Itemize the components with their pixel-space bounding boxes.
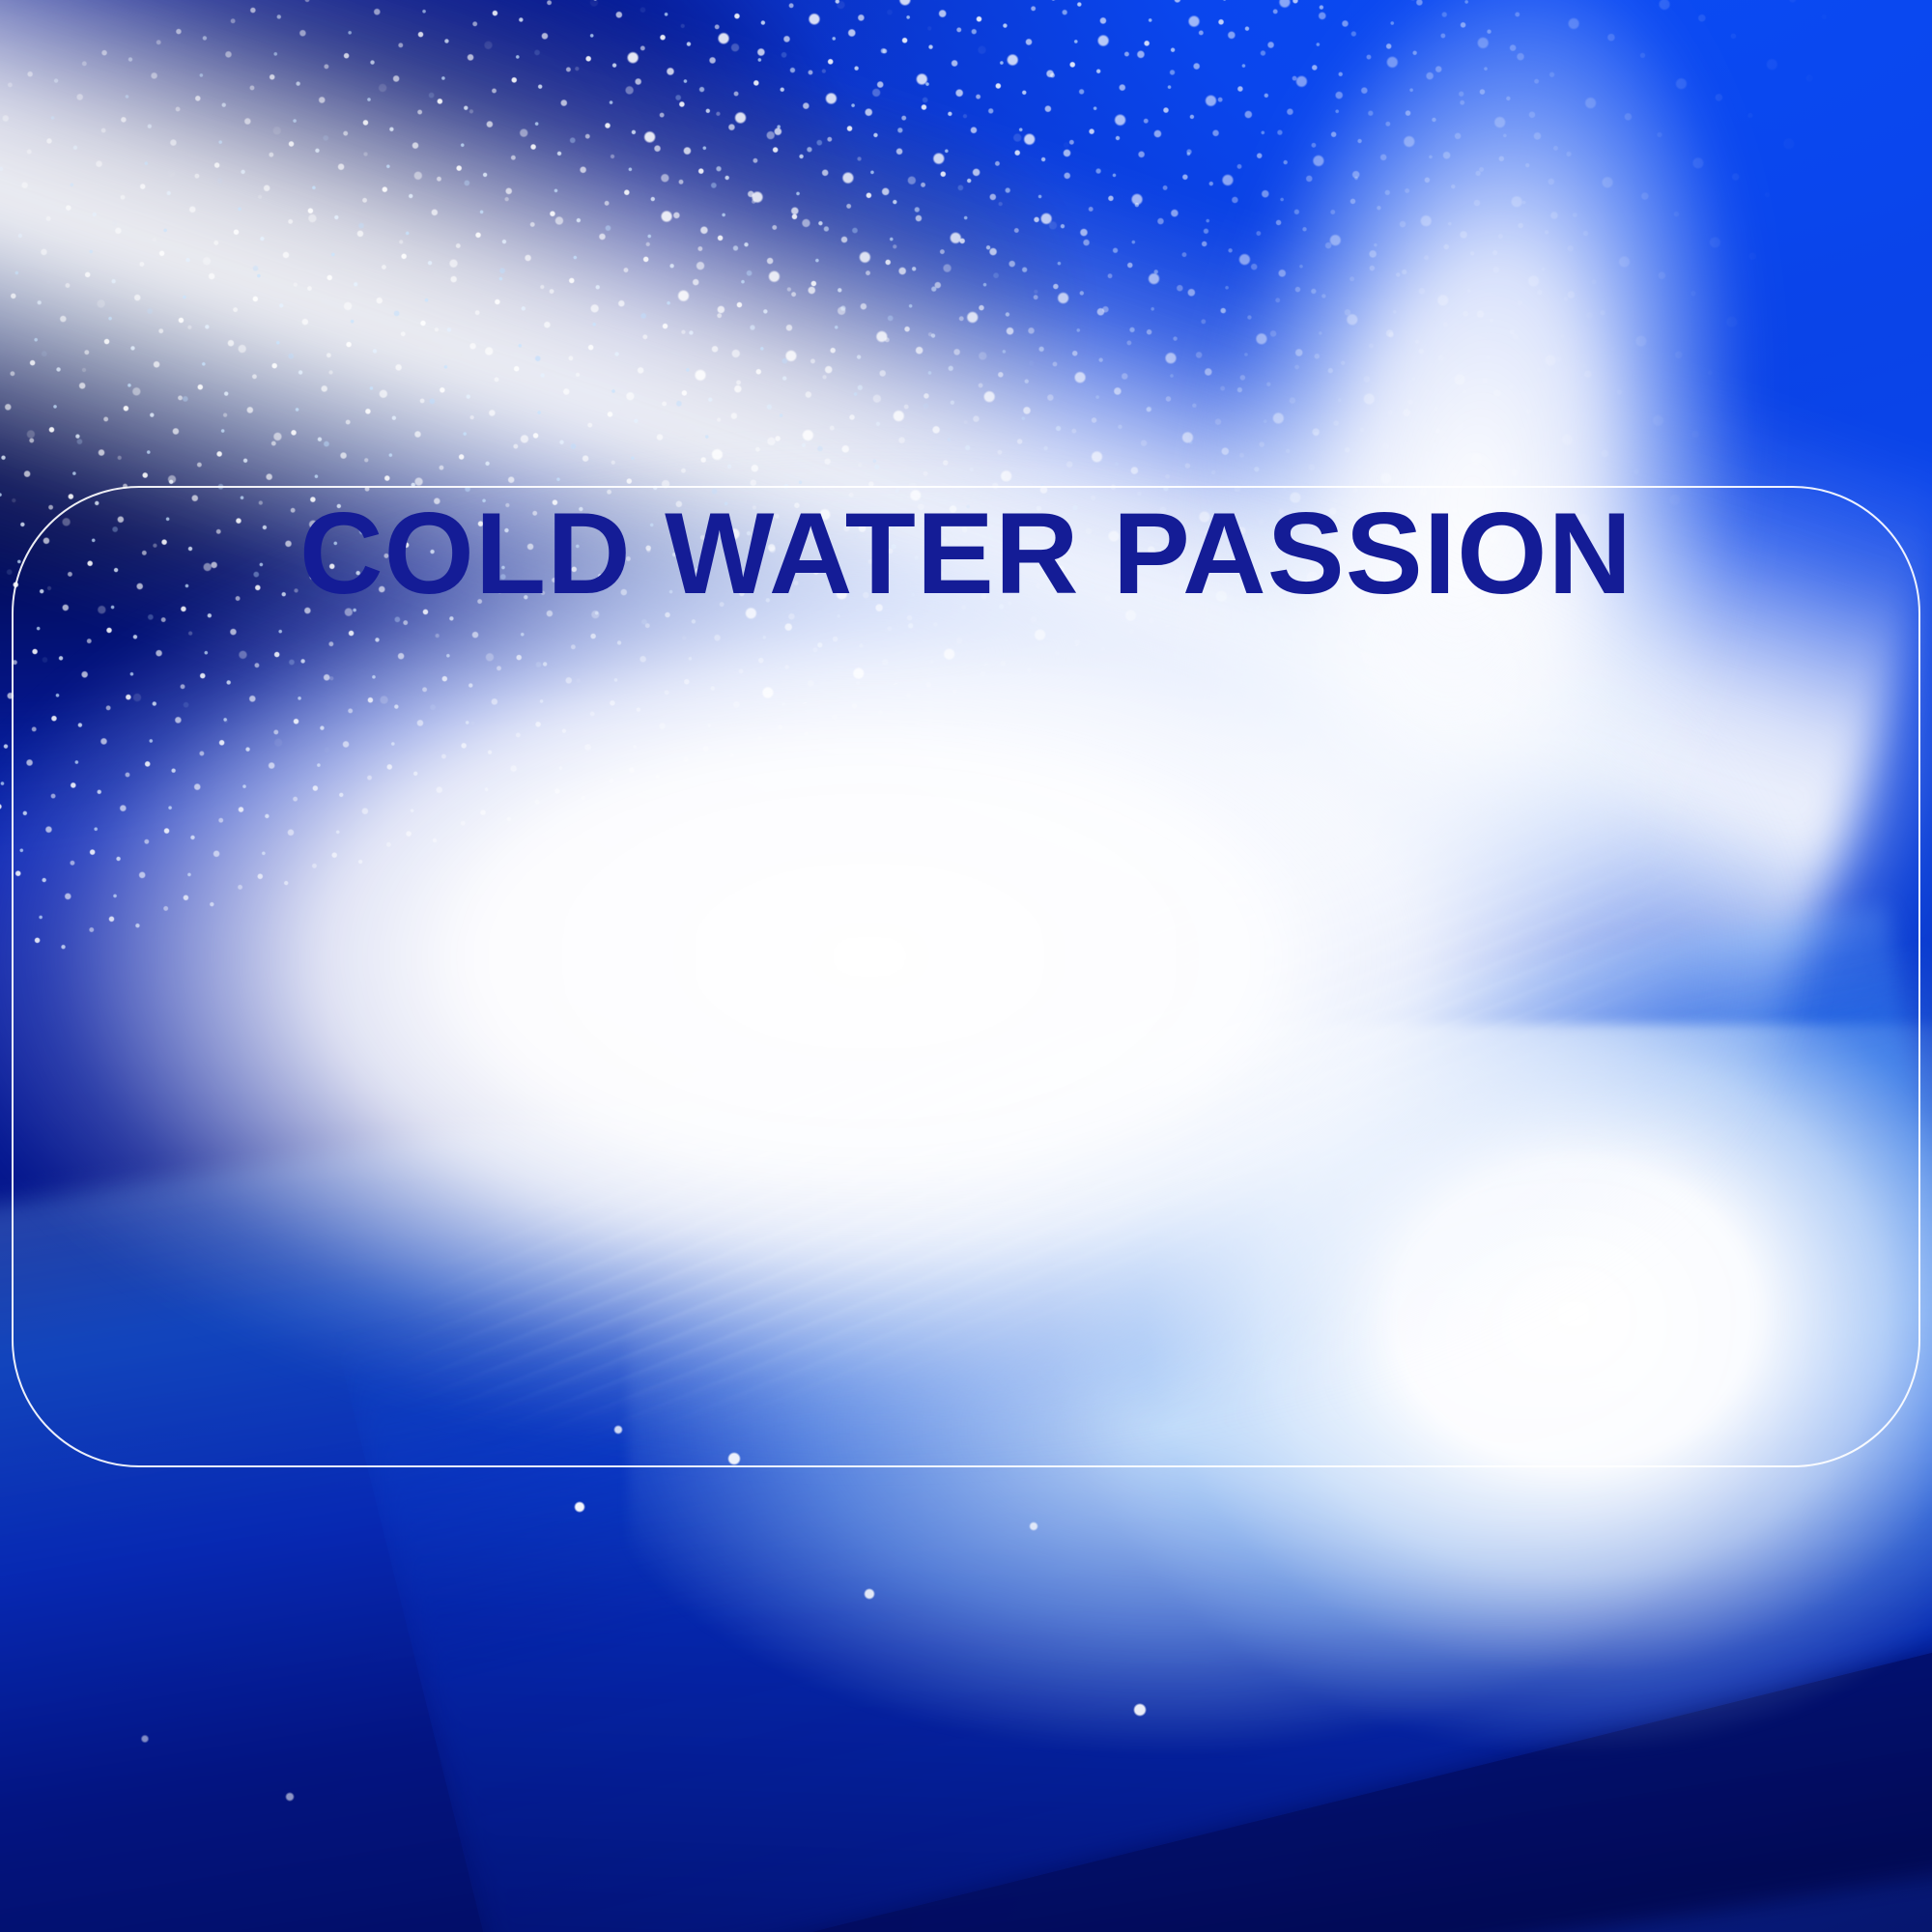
promo-graphic: COLD WATER PASSION A captivating masculi… xyxy=(0,0,1932,1932)
text-card-content: COLD WATER PASSION A captivating masculi… xyxy=(14,488,1918,1465)
text-card: COLD WATER PASSION A captivating masculi… xyxy=(12,486,1920,1467)
product-title: COLD WATER PASSION xyxy=(299,488,1633,611)
product-description: A captivating masculine scent of Lavende… xyxy=(27,611,1905,635)
